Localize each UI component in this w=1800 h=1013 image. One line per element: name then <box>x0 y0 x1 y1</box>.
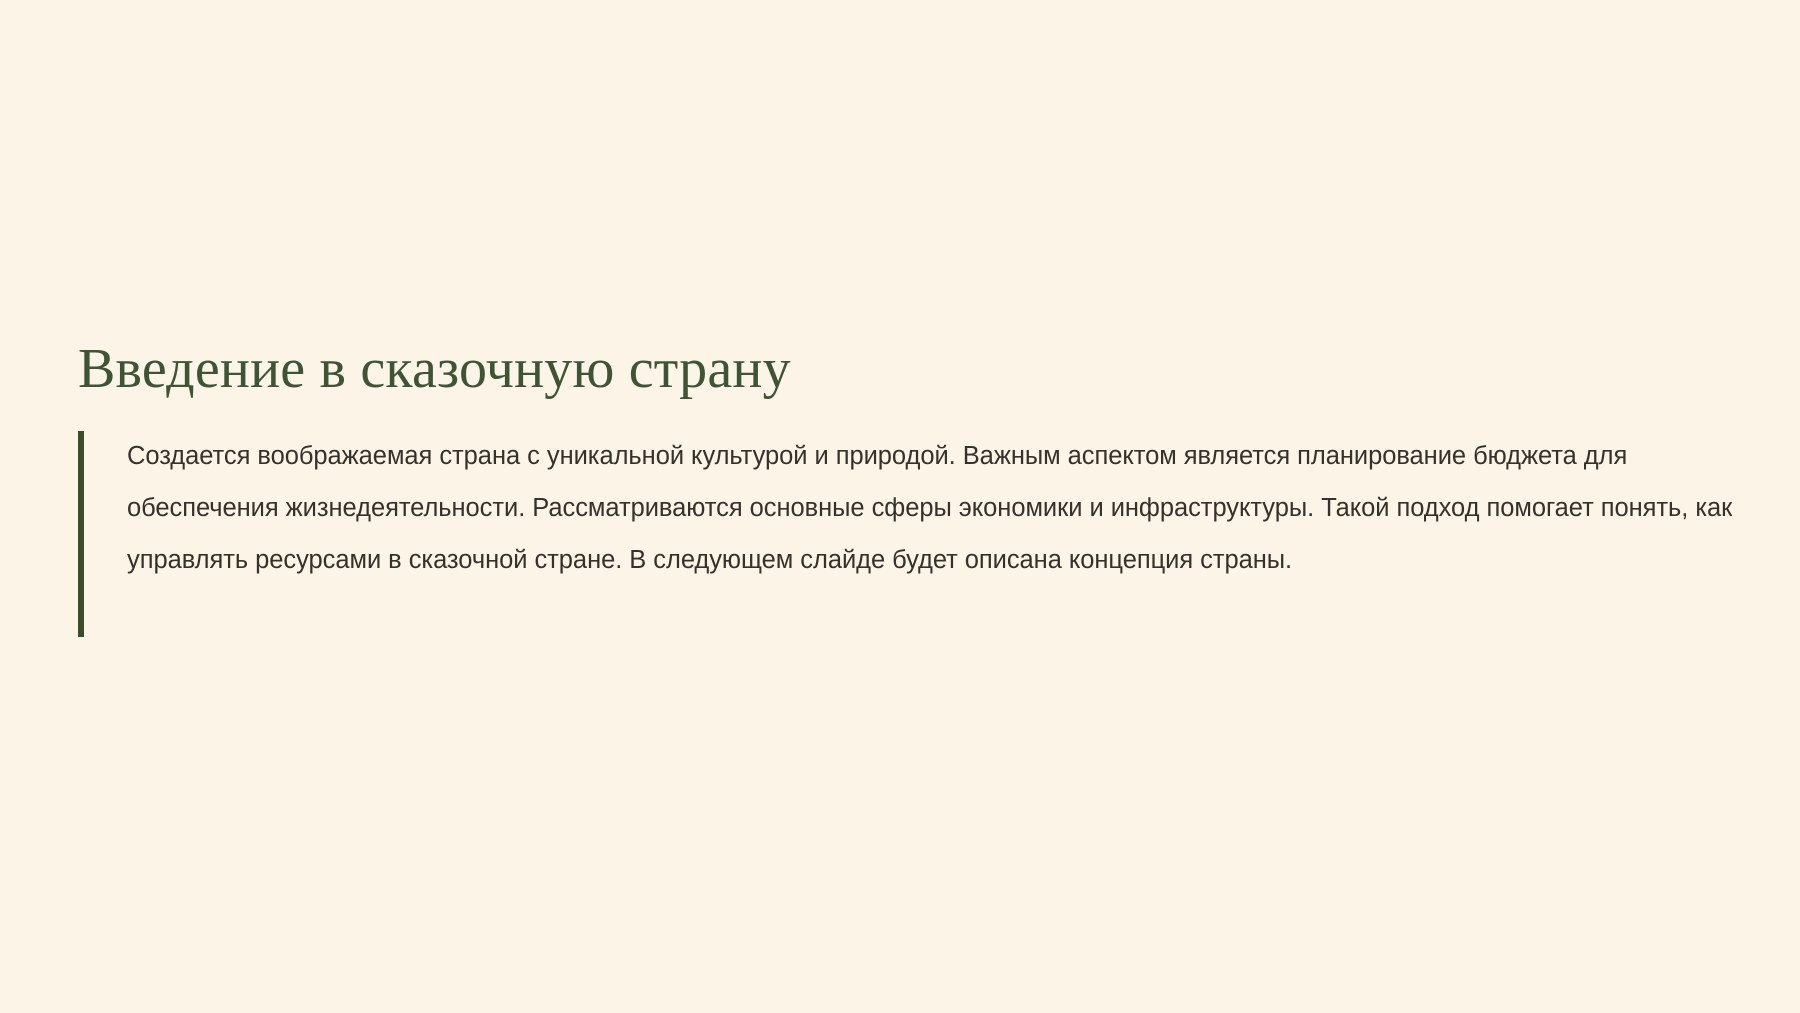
presentation-slide: Введение в сказочную страну Создается во… <box>0 0 1800 1013</box>
body-paragraph: Создается воображаемая страна с уникальн… <box>84 429 1735 637</box>
body-block: Создается воображаемая страна с уникальн… <box>78 429 1738 637</box>
slide-content: Введение в сказочную страну Создается во… <box>78 338 1738 637</box>
page-title: Введение в сказочную страну <box>78 338 1738 401</box>
